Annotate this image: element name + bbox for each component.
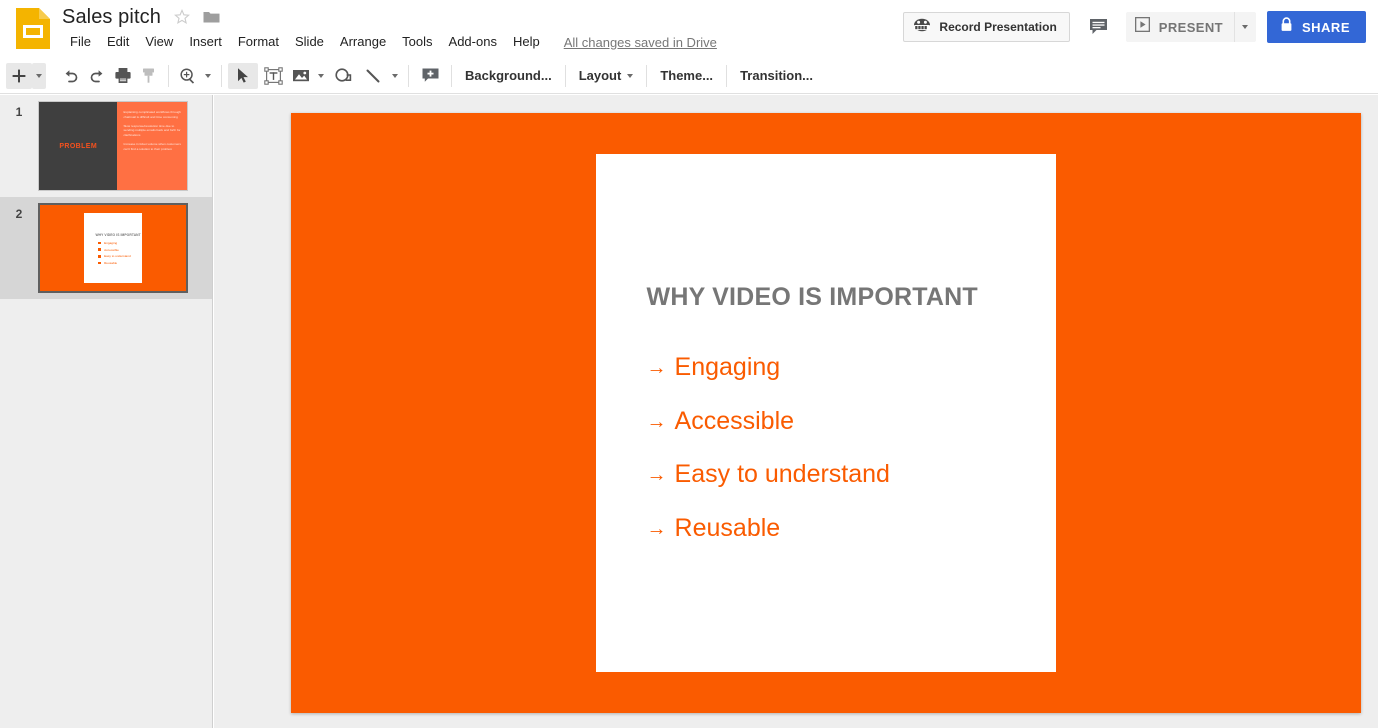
slide-number: 1 <box>0 101 38 119</box>
theme-button[interactable]: Theme... <box>647 58 726 94</box>
star-outline-icon[interactable] <box>174 9 190 25</box>
transition-button[interactable]: Transition... <box>727 58 826 94</box>
menu-slide[interactable]: Slide <box>287 31 332 53</box>
slide-bullet-label: Engaging <box>675 354 781 382</box>
thumb1-orange-panel: Explaining complicated workflows through… <box>117 102 187 190</box>
menu-edit[interactable]: Edit <box>99 31 137 53</box>
text-box-icon[interactable] <box>258 63 288 89</box>
menu-file[interactable]: File <box>62 31 99 53</box>
thumb2-bullet: Engaging <box>95 241 142 245</box>
comment-icon[interactable] <box>1082 12 1116 42</box>
slide-bullet[interactable]: → Reusable <box>647 515 1029 543</box>
share-button[interactable]: SHARE <box>1267 11 1366 43</box>
present-label: PRESENT <box>1159 20 1223 35</box>
menu-format[interactable]: Format <box>230 31 287 53</box>
image-chevron-down-icon[interactable] <box>314 63 328 89</box>
arrow-right-icon: → <box>647 465 675 485</box>
slide-bullet[interactable]: → Accessible <box>647 408 1029 436</box>
arrow-right-icon: → <box>647 358 675 378</box>
thumb2-bullet: Easy to understand <box>95 254 142 258</box>
present-dropdown-chevron-down-icon[interactable] <box>1234 12 1256 42</box>
webcam-icon <box>913 17 931 38</box>
filmstrip-slide-1[interactable]: 1 PROBLEM Explaining complicated workflo… <box>0 95 212 197</box>
arrow-right-icon: → <box>647 412 675 432</box>
lock-icon <box>1280 17 1293 37</box>
line-chevron-down-icon[interactable] <box>388 63 402 89</box>
add-comment-icon[interactable] <box>415 63 445 89</box>
play-icon <box>1135 17 1150 37</box>
layout-chevron-down-icon <box>627 74 633 78</box>
slide-number: 2 <box>0 203 38 221</box>
thumb1-paragraph: Slow response/resolution time due to sen… <box>123 124 181 138</box>
thumb1-paragraph: Increase in ticket volume when customers… <box>123 142 181 152</box>
record-presentation-button[interactable]: Record Presentation <box>903 12 1069 42</box>
zoom-in-icon[interactable] <box>175 63 201 89</box>
thumb1-title: PROBLEM <box>59 143 97 150</box>
plus-icon[interactable] <box>6 63 32 89</box>
arrow-right-icon: → <box>647 519 675 539</box>
app-header: Sales pitch File Edit View Insert Format… <box>0 0 1378 58</box>
thumb2-bullet-label: Engaging <box>104 241 117 245</box>
slide-text-body: WHY VIDEO IS IMPORTANT → Engaging → Acce… <box>647 154 1029 671</box>
menu-bar: File Edit View Insert Format Slide Arran… <box>62 31 717 53</box>
undo-icon[interactable] <box>58 63 84 89</box>
thumb2-title: WHY VIDEO IS IMPORTANT <box>95 233 142 237</box>
layout-label: Layout <box>579 68 622 83</box>
save-status-link[interactable]: All changes saved in Drive <box>564 35 717 50</box>
document-title[interactable]: Sales pitch <box>62 4 161 30</box>
toolbar-group-edit <box>52 58 168 94</box>
menu-insert[interactable]: Insert <box>181 31 230 53</box>
slide-bullet-label: Easy to understand <box>675 461 890 489</box>
header-actions: Record Presentation <box>903 11 1366 43</box>
filmstrip-slide-2[interactable]: 2 WHY VIDEO IS IMPORTANT Engaging Access… <box>0 197 212 299</box>
thumb2-bullet: Reusable <box>95 261 142 265</box>
slide-bullet-label: Reusable <box>675 515 781 543</box>
thumb2-bullet-label: Accessible <box>104 248 119 252</box>
main-toolbar: Background... Layout Theme... Transition… <box>0 58 1378 94</box>
thumb2-white-card: WHY VIDEO IS IMPORTANT Engaging Accessib… <box>84 213 142 284</box>
record-presentation-label: Record Presentation <box>939 20 1056 34</box>
paint-format-icon[interactable] <box>136 63 162 89</box>
background-button[interactable]: Background... <box>452 58 565 94</box>
zoom-chevron-down-icon[interactable] <box>201 63 215 89</box>
thumb1-paragraph: Explaining complicated workflows through… <box>123 110 181 120</box>
toolbar-group-comment <box>409 58 451 94</box>
menu-view[interactable]: View <box>137 31 181 53</box>
thumb2-bullet-label: Reusable <box>104 261 117 265</box>
image-icon[interactable] <box>288 63 314 89</box>
bullet-marker-icon <box>98 255 101 258</box>
toolbar-group-insert <box>222 58 408 94</box>
toolbar-group-zoom <box>169 58 221 94</box>
bullet-marker-icon <box>98 242 101 245</box>
bullet-marker-icon <box>98 248 101 251</box>
toolbar-group-slide <box>0 58 52 94</box>
menu-add-ons[interactable]: Add-ons <box>441 31 505 53</box>
slide-thumbnail[interactable]: WHY VIDEO IS IMPORTANT Engaging Accessib… <box>38 203 188 293</box>
menu-help[interactable]: Help <box>505 31 548 53</box>
share-label: SHARE <box>1302 20 1350 35</box>
layout-button[interactable]: Layout <box>566 58 647 94</box>
slide-title[interactable]: WHY VIDEO IS IMPORTANT <box>647 283 1029 312</box>
slide-canvas-area[interactable]: WHY VIDEO IS IMPORTANT → Engaging → Acce… <box>214 95 1378 728</box>
bullet-marker-icon <box>98 262 101 265</box>
menu-arrange[interactable]: Arrange <box>332 31 394 53</box>
google-slides-app: Sales pitch File Edit View Insert Format… <box>0 0 1378 728</box>
slide-content-card[interactable]: WHY VIDEO IS IMPORTANT → Engaging → Acce… <box>596 154 1056 671</box>
thumb2-bullet-label: Easy to understand <box>104 254 131 258</box>
slide-bullet[interactable]: → Easy to understand <box>647 461 1029 489</box>
slide-bullet-label: Accessible <box>675 408 795 436</box>
current-slide[interactable]: WHY VIDEO IS IMPORTANT → Engaging → Acce… <box>291 113 1361 713</box>
thumb2-bullet: Accessible <box>95 248 142 252</box>
print-icon[interactable] <box>110 63 136 89</box>
title-row: Sales pitch <box>62 4 220 30</box>
slide-thumbnail[interactable]: PROBLEM Explaining complicated workflows… <box>38 101 188 191</box>
folder-icon[interactable] <box>203 10 220 24</box>
slide-filmstrip[interactable]: 1 PROBLEM Explaining complicated workflo… <box>0 95 213 728</box>
new-slide-chevron-down-icon[interactable] <box>32 63 46 89</box>
thumb1-dark-panel: PROBLEM <box>39 102 117 190</box>
line-icon[interactable] <box>358 63 388 89</box>
shape-icon[interactable] <box>328 63 358 89</box>
present-button-group: PRESENT <box>1126 12 1256 42</box>
present-button[interactable]: PRESENT <box>1126 12 1234 42</box>
menu-tools[interactable]: Tools <box>394 31 440 53</box>
redo-icon[interactable] <box>84 63 110 89</box>
cursor-arrow-icon[interactable] <box>228 63 258 89</box>
slide-bullet[interactable]: → Engaging <box>647 354 1029 382</box>
slides-logo-icon[interactable] <box>14 6 52 51</box>
